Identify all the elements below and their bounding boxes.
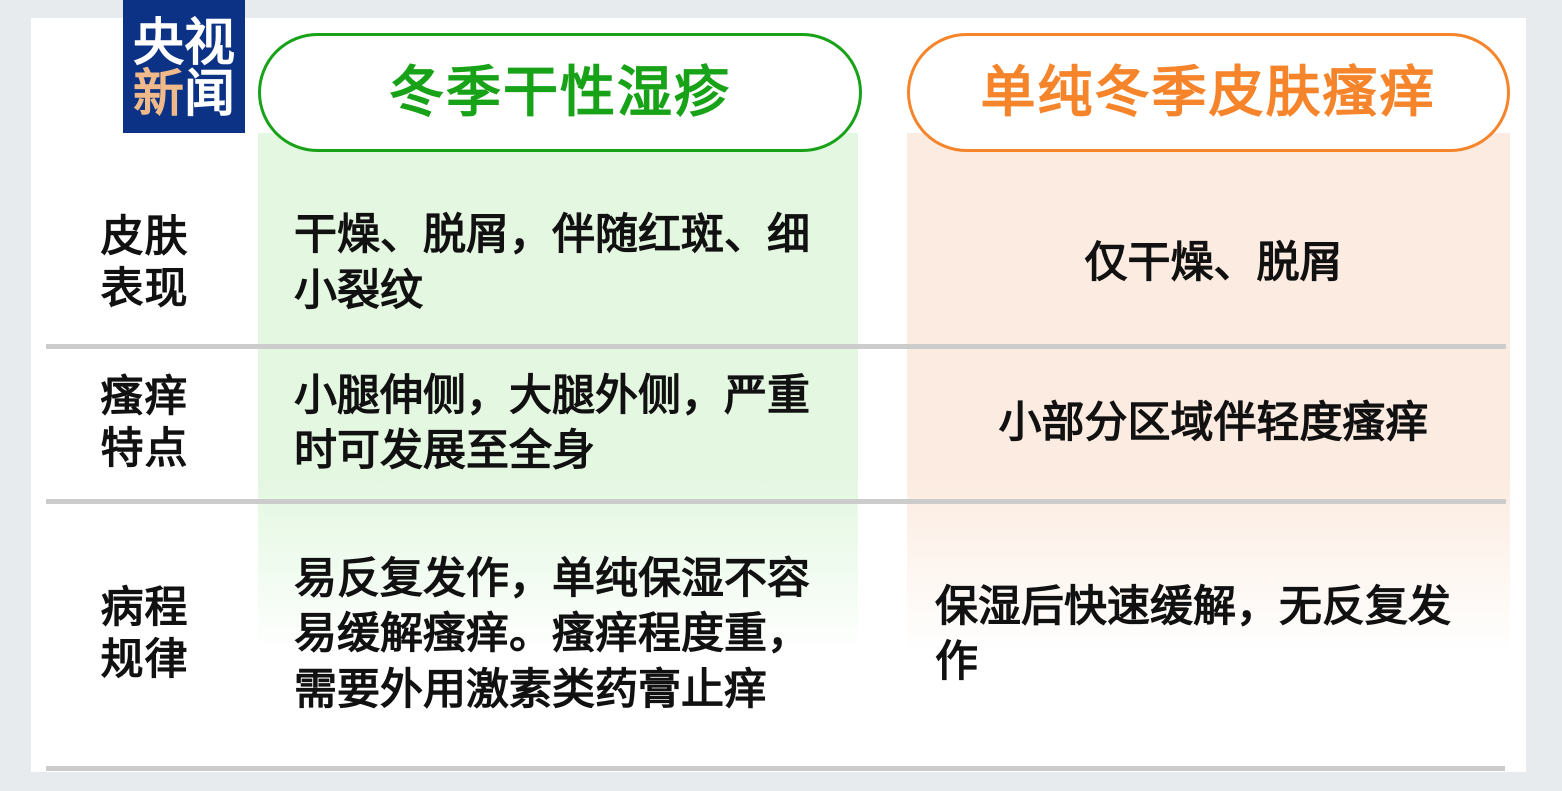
header-title-green: 冬季干性湿疹 bbox=[389, 65, 731, 120]
logo-text-xin: 新 bbox=[133, 68, 184, 119]
row-label-line: 规律 bbox=[31, 635, 258, 687]
logo-line-xinwen: 新 闻 bbox=[133, 68, 235, 119]
row-label-disease-course: 病程 规律 bbox=[31, 583, 258, 686]
row-divider bbox=[46, 499, 1506, 504]
row-label-line: 病程 bbox=[31, 583, 258, 635]
row-label-line: 皮肤 bbox=[31, 212, 258, 264]
cell-green-skin-appearance: 干燥、脱屑，伴随红斑、细小裂纹 bbox=[258, 208, 858, 318]
row-label-line: 表现 bbox=[31, 264, 258, 316]
header-pill-dry-eczema: 冬季干性湿疹 bbox=[258, 33, 862, 152]
logo-text-wen: 闻 bbox=[184, 68, 235, 119]
cell-green-itch-features: 小腿伸侧，大腿外侧，严重时可发展至全身 bbox=[258, 369, 858, 479]
row-label-line: 瘙痒 bbox=[31, 372, 258, 424]
header-title-orange: 单纯冬季皮肤瘙痒 bbox=[980, 65, 1436, 120]
cell-orange-disease-course: 保湿后快速缓解，无反复发作 bbox=[907, 580, 1510, 690]
logo-text-yangshi: 央视 bbox=[133, 17, 235, 68]
row-label-skin-appearance: 皮肤 表现 bbox=[31, 212, 258, 315]
row-label-itch-features: 瘙痒 特点 bbox=[31, 372, 258, 475]
cell-orange-itch-features: 小部分区域伴轻度瘙痒 bbox=[907, 396, 1510, 451]
comparison-infographic: 皮肤 表现 干燥、脱屑，伴随红斑、细小裂纹 仅干燥、脱屑 瘙痒 特点 小腿伸侧，… bbox=[0, 0, 1562, 791]
cell-green-disease-course: 易反复发作，单纯保湿不容易缓解瘙痒。瘙痒程度重，需要外用激素类药膏止痒 bbox=[258, 552, 858, 717]
table-row: 病程 规律 易反复发作，单纯保湿不容易缓解瘙痒。瘙痒程度重，需要外用激素类药膏止… bbox=[31, 504, 1526, 766]
cctv-news-logo: 央视 新 闻 bbox=[123, 0, 245, 133]
table-bottom-divider bbox=[46, 766, 1505, 771]
header-pill-winter-itch: 单纯冬季皮肤瘙痒 bbox=[907, 33, 1510, 152]
table-row: 皮肤 表现 干燥、脱屑，伴随红斑、细小裂纹 仅干燥、脱屑 bbox=[31, 183, 1526, 344]
row-divider bbox=[46, 344, 1506, 349]
table-row: 瘙痒 特点 小腿伸侧，大腿外侧，严重时可发展至全身 小部分区域伴轻度瘙痒 bbox=[31, 349, 1526, 499]
row-label-line: 特点 bbox=[31, 424, 258, 476]
cell-orange-skin-appearance: 仅干燥、脱屑 bbox=[907, 236, 1510, 291]
logo-line-yangshi: 央视 bbox=[133, 17, 235, 68]
